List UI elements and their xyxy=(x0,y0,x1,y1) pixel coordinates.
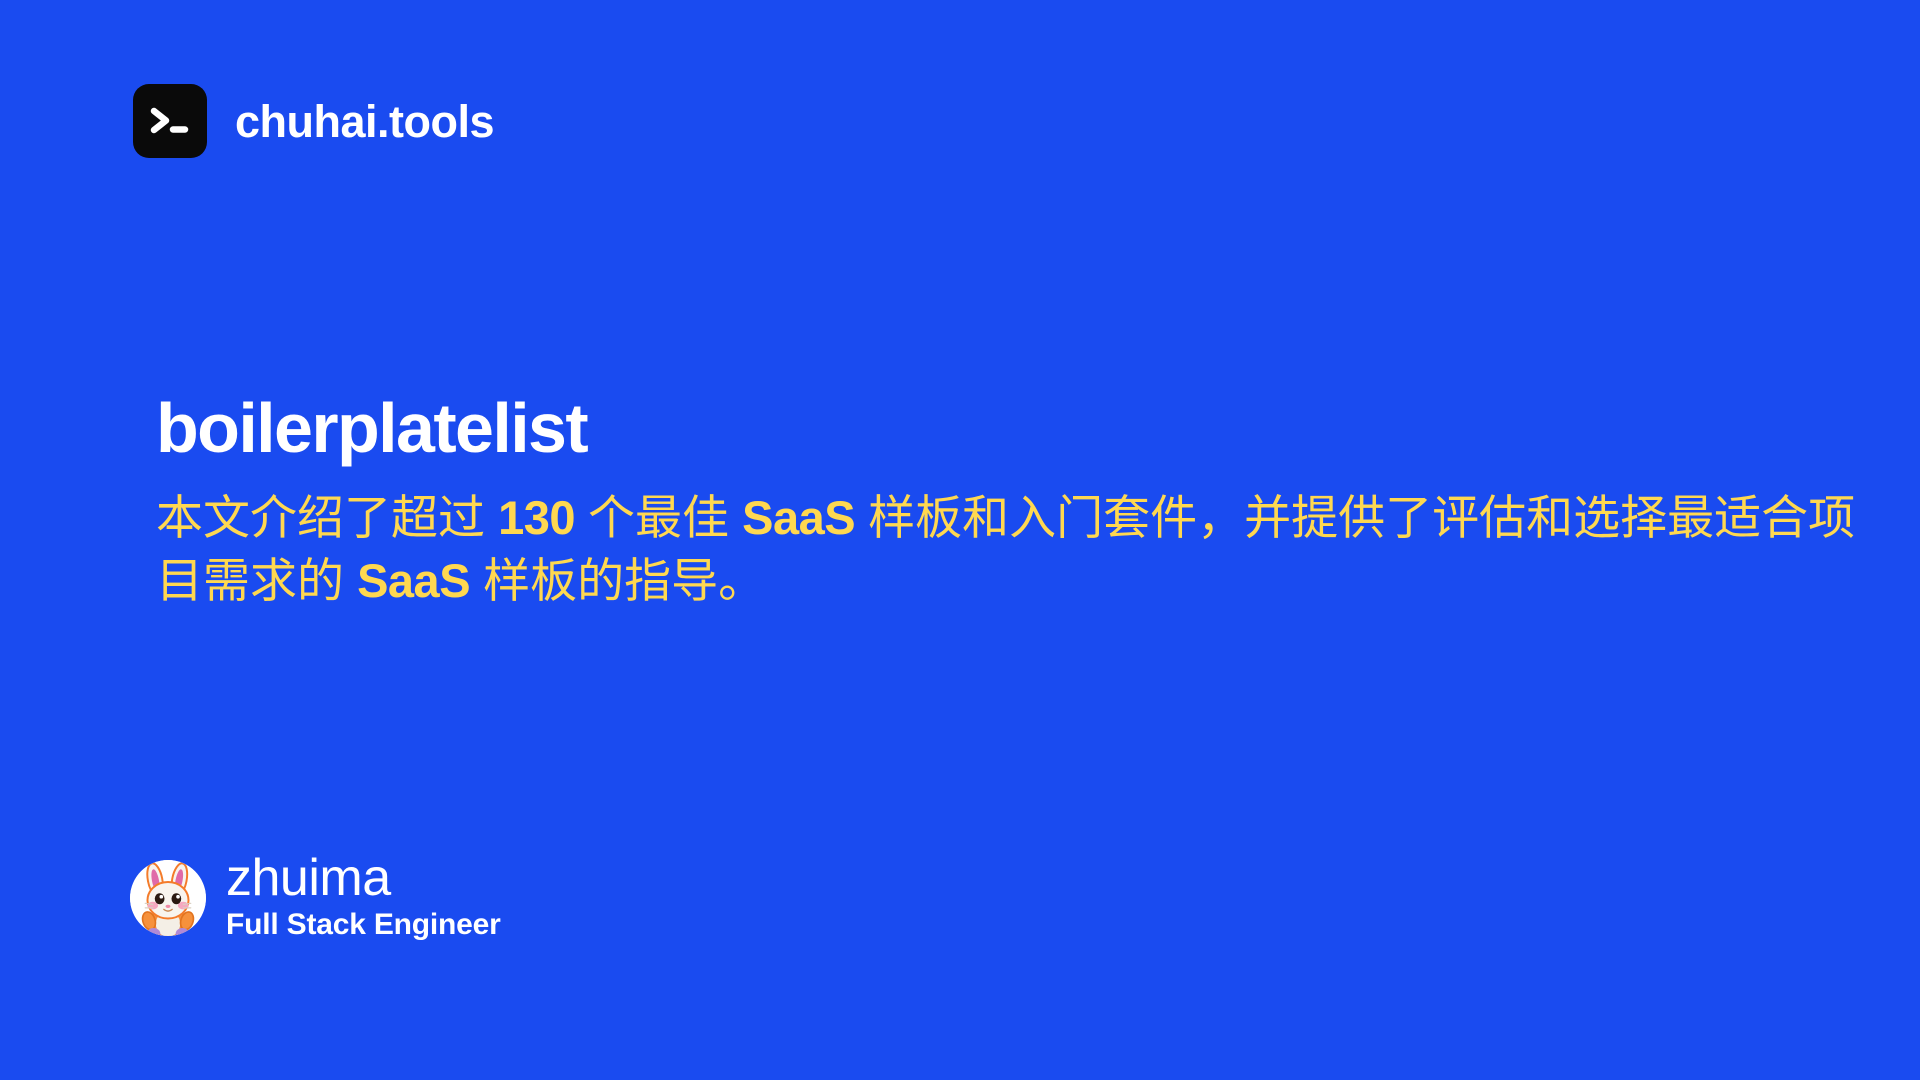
author-role: Full Stack Engineer xyxy=(226,905,501,944)
post-description: 本文介绍了超过 130 个最佳 SaaS 样板和入门套件，并提供了评估和选择最适… xyxy=(156,487,1876,613)
page-title: boilerplatelist xyxy=(156,392,1880,465)
social-share-card: chuhai.tools boilerplatelist 本文介绍了超过 130… xyxy=(0,0,1920,1080)
author-block[interactable]: zhuima Full Stack Engineer xyxy=(130,852,501,944)
rabbit-avatar-icon xyxy=(130,860,206,936)
brand-name: chuhai.tools xyxy=(235,99,494,144)
main-content: boilerplatelist 本文介绍了超过 130 个最佳 SaaS 样板和… xyxy=(156,392,1880,613)
terminal-prompt-icon xyxy=(133,84,207,158)
author-name: zhuima xyxy=(226,852,501,905)
author-meta: zhuima Full Stack Engineer xyxy=(226,852,501,944)
brand-header[interactable]: chuhai.tools xyxy=(133,84,494,158)
